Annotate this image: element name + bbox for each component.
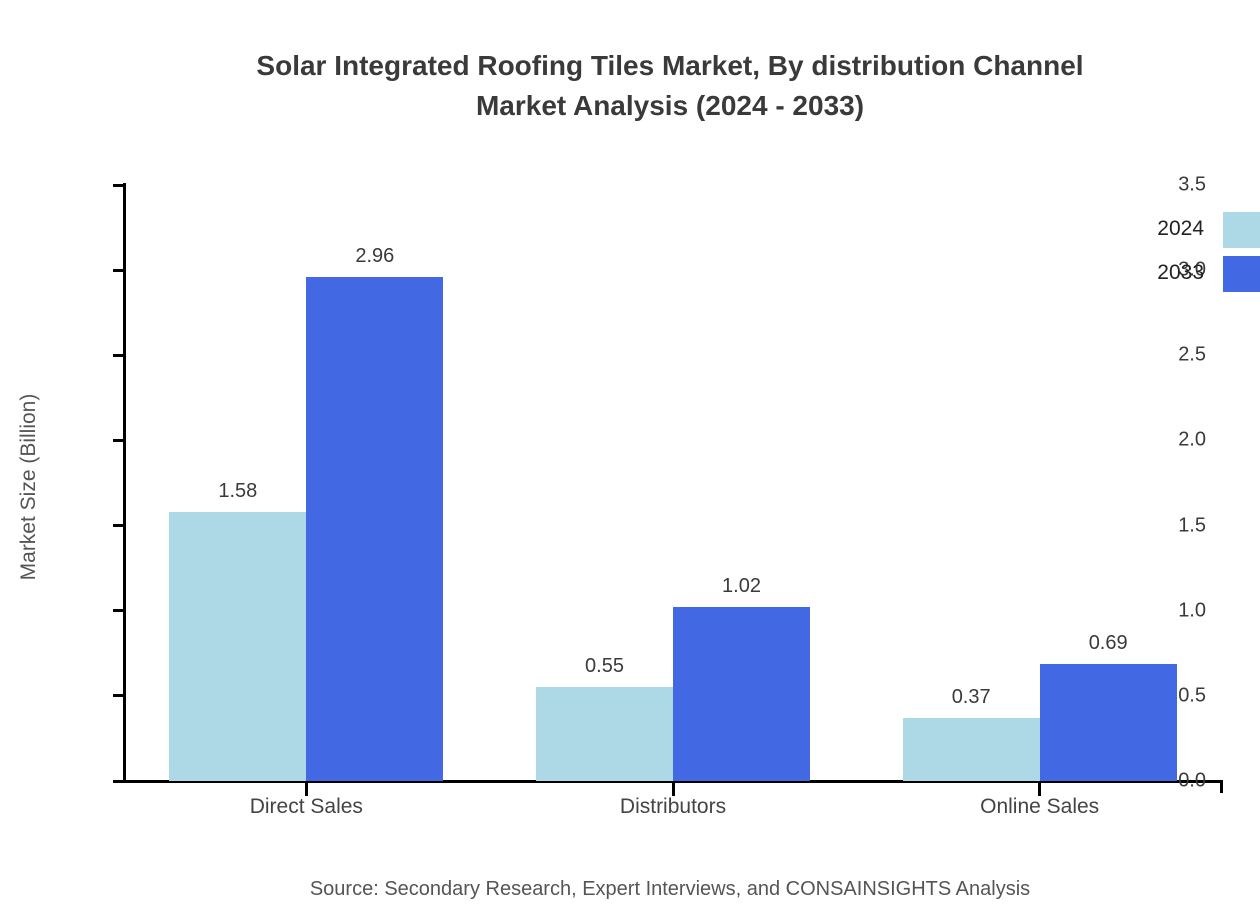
chart-title-line-2: Market Analysis (2024 - 2033) [0, 86, 1260, 126]
y-axis-title: Market Size (Billion) [17, 187, 41, 787]
bar[interactable] [903, 718, 1040, 781]
bar-value-label: 0.55 [585, 655, 624, 678]
y-tick-label: 1.0 [1178, 599, 1206, 622]
source-note: Source: Secondary Research, Expert Inter… [0, 878, 1260, 901]
bar-value-label: 0.69 [1089, 632, 1128, 655]
y-tick-mark [113, 269, 123, 272]
y-tick-label: 2.0 [1178, 429, 1206, 452]
bar[interactable] [1040, 664, 1177, 781]
bar[interactable] [673, 607, 810, 781]
legend-color-swatch [1223, 256, 1260, 292]
bar[interactable] [169, 512, 306, 781]
chart-title: Solar Integrated Roofing Tiles Market, B… [0, 46, 1260, 126]
legend: 20242033 [1100, 212, 1260, 312]
bar-chart-figure: Solar Integrated Roofing Tiles Market, B… [0, 0, 1260, 920]
y-tick-mark [113, 524, 123, 527]
y-tick-label: 0.5 [1178, 684, 1206, 707]
legend-label: 2033 [1100, 261, 1204, 285]
bar-value-label: 1.02 [722, 575, 761, 598]
bar-value-label: 2.96 [355, 245, 394, 268]
chart-title-line-1: Solar Integrated Roofing Tiles Market, B… [0, 46, 1260, 86]
y-tick-label: 1.5 [1178, 514, 1206, 537]
x-tick-label[interactable]: Online Sales [980, 795, 1099, 819]
legend-label: 2024 [1100, 217, 1204, 241]
legend-color-swatch [1223, 212, 1260, 248]
y-tick-label: 2.5 [1178, 344, 1206, 367]
bar-value-label: 0.37 [952, 686, 991, 709]
y-tick-mark [113, 609, 123, 612]
y-tick-mark [113, 439, 123, 442]
y-tick-label: 3.5 [1178, 174, 1206, 197]
x-tick-label[interactable]: Direct Sales [250, 795, 363, 819]
x-axis-end-tick [1220, 780, 1223, 793]
y-tick-mark [113, 354, 123, 357]
y-tick-label: 0.0 [1178, 770, 1206, 793]
legend-item[interactable]: 2033 [1100, 256, 1260, 292]
y-tick-mark [113, 780, 123, 783]
plot-area: 0.00.51.01.52.02.53.03.5 1.582.960.551.0… [123, 185, 1223, 781]
bar-value-label: 1.58 [218, 480, 257, 503]
bar[interactable] [306, 277, 443, 781]
y-tick-mark [113, 694, 123, 697]
bar[interactable] [536, 687, 673, 781]
x-tick-label[interactable]: Distributors [620, 795, 726, 819]
y-tick-mark [113, 184, 123, 187]
legend-item[interactable]: 2024 [1100, 212, 1260, 248]
